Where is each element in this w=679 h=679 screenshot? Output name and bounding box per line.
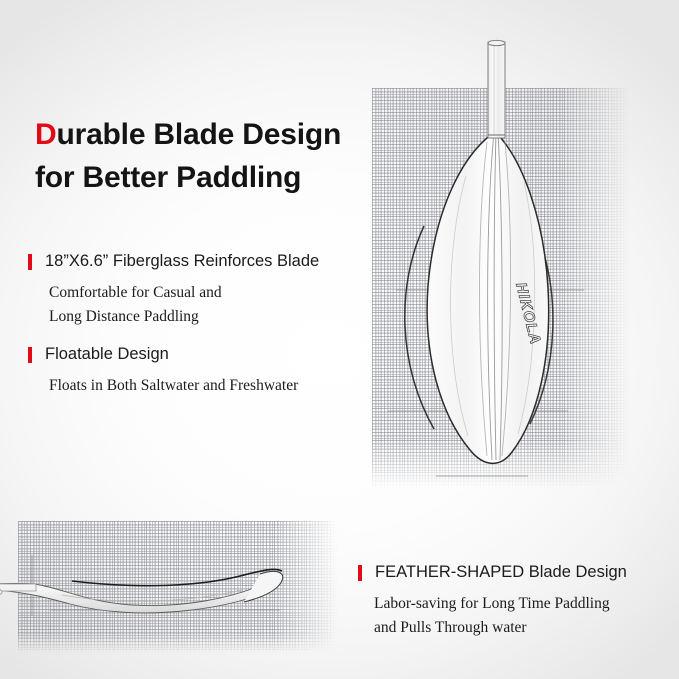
feature-block-fiberglass-blade: 18”X6.6” Fiberglass Reinforces Blade Com…: [28, 252, 319, 329]
feature-block-feather-shaped-blade: FEATHER-SHAPED Blade Design Labor-saving…: [358, 563, 627, 640]
feature-heading-text: 18”X6.6” Fiberglass Reinforces Blade: [45, 252, 319, 270]
feature-heading: 18”X6.6” Fiberglass Reinforces Blade: [28, 252, 319, 272]
promo-page: HIKOLA Durable Blade Design for Better P…: [0, 0, 679, 679]
paddle-blade-side-image: [0, 540, 322, 640]
feature-description: Labor-saving for Long Time Paddling and …: [374, 592, 627, 640]
headline-line-2: for Better Paddling: [35, 161, 301, 194]
headline-line-1: urable Blade Design: [56, 118, 341, 151]
red-bullet-icon: [28, 347, 32, 363]
feature-block-floatable-design: Floatable Design Floats in Both Saltwate…: [28, 345, 298, 398]
paddle-shaft: [488, 42, 505, 138]
blade-side-tip: [244, 571, 283, 602]
blade-side-shaft: [0, 584, 36, 591]
red-bullet-icon: [358, 565, 362, 581]
shaft-top-opening: [488, 40, 505, 45]
feature-heading-text: FEATHER-SHAPED Blade Design: [375, 563, 627, 581]
blade-side-top-edge: [72, 569, 282, 585]
page-title: Durable Blade Design for Better Paddling: [35, 114, 395, 199]
feature-description: Floats in Both Saltwater and Freshwater: [49, 374, 298, 398]
feature-heading-text: Floatable Design: [45, 345, 169, 363]
headline-accent-letter: D: [35, 118, 56, 151]
feature-heading: Floatable Design: [28, 345, 298, 365]
blade-side-body: [0, 577, 282, 612]
paddle-blade-front-image: HIKOLA: [388, 36, 620, 486]
feature-heading: FEATHER-SHAPED Blade Design: [358, 563, 627, 583]
feature-description: Comfortable for Casual and Long Distance…: [49, 281, 319, 329]
red-bullet-icon: [28, 254, 32, 270]
